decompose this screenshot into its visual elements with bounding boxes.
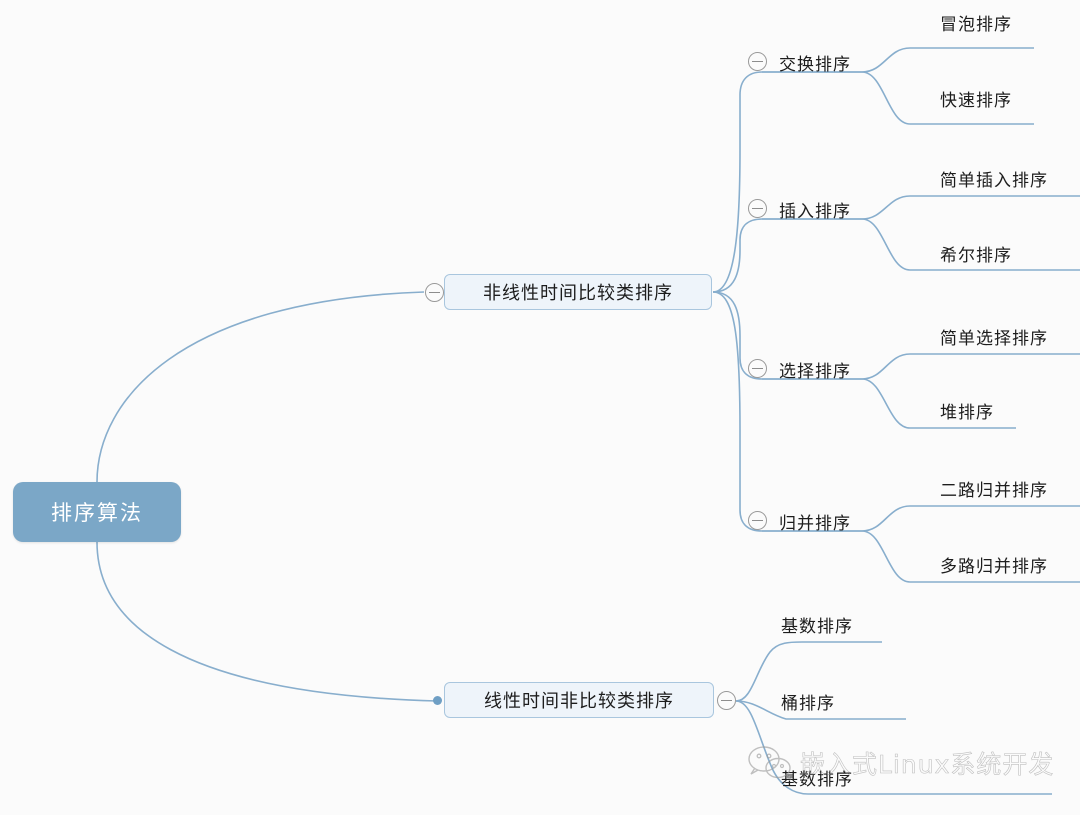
collapse-minus-icon-nonlinear[interactable]	[425, 283, 444, 302]
leaf-bucket-sort[interactable]: 桶排序	[781, 689, 835, 714]
collapse-minus-icon-exchange[interactable]	[748, 52, 767, 71]
edge-nonlinear-to-exchange	[713, 72, 762, 292]
edge-nonlinear-to-insert	[713, 219, 762, 292]
root-node[interactable]: 排序算法	[13, 482, 181, 542]
branch-node-linear-label: 线性时间非比较类排序	[484, 687, 674, 713]
leaf-heap-sort[interactable]: 堆排序	[940, 398, 994, 423]
leaf-simple-insert-sort[interactable]: 简单插入排序	[940, 166, 1048, 191]
node-exchange-sort[interactable]: 交换排序	[779, 50, 851, 75]
root-node-label: 排序算法	[51, 497, 143, 527]
leaf-simple-select-sort[interactable]: 简单选择排序	[940, 324, 1048, 349]
branch-node-nonlinear[interactable]: 非线性时间比较类排序	[444, 274, 712, 310]
leaf-multi-way-merge-sort[interactable]: 多路归并排序	[940, 552, 1048, 577]
leaf-radix-sort[interactable]: 基数排序	[781, 612, 853, 637]
node-insert-sort[interactable]: 插入排序	[779, 197, 851, 222]
edge-root-to-linear	[97, 542, 437, 701]
collapse-minus-icon-insert[interactable]	[748, 199, 767, 218]
mindmap-canvas: 排序算法 非线性时间比较类排序 线性时间非比较类排序 交换排序 插入排序 选择排…	[0, 0, 1080, 815]
collapse-minus-icon-linear[interactable]	[717, 691, 736, 710]
leaf-two-way-merge-sort[interactable]: 二路归并排序	[940, 476, 1048, 501]
edge-root-to-nonlinear	[97, 292, 424, 482]
leaf-quick-sort[interactable]: 快速排序	[940, 86, 1012, 111]
leaf-counting-sort[interactable]: 基数排序	[781, 765, 853, 790]
edge-nonlinear-to-merge	[713, 292, 762, 531]
node-select-sort[interactable]: 选择排序	[779, 357, 851, 382]
collapse-minus-icon-merge[interactable]	[748, 511, 767, 530]
edge-insert-to-shell	[762, 219, 1080, 270]
node-merge-sort[interactable]: 归并排序	[779, 509, 851, 534]
collapse-minus-icon-select[interactable]	[748, 359, 767, 378]
branch-node-nonlinear-label: 非线性时间比较类排序	[483, 279, 673, 305]
leaf-bubble-sort[interactable]: 冒泡排序	[940, 10, 1012, 35]
branch-node-linear[interactable]: 线性时间非比较类排序	[444, 682, 714, 718]
connector-dot-linear	[433, 696, 442, 705]
leaf-shell-sort[interactable]: 希尔排序	[940, 241, 1012, 266]
